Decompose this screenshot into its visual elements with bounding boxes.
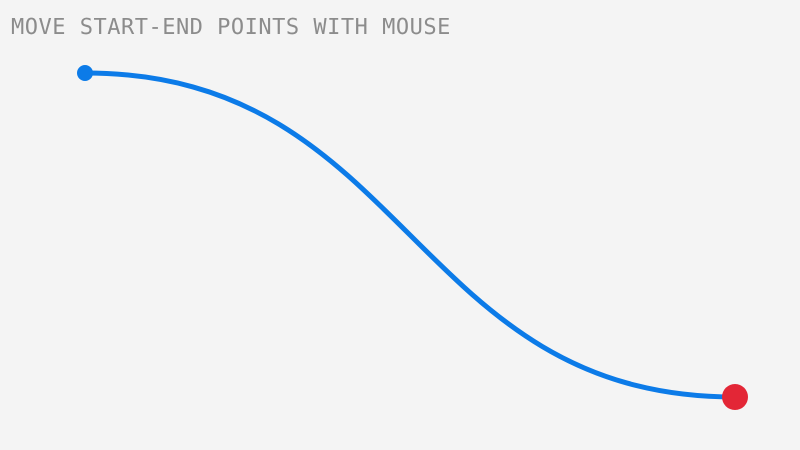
end-point-handle[interactable]	[722, 384, 748, 410]
start-point-handle[interactable]	[77, 65, 93, 81]
curve-canvas[interactable]	[0, 0, 800, 450]
bezier-curve-path	[85, 73, 735, 397]
bezier-canvas-stage[interactable]: MOVE START-END POINTS WITH MOUSE	[0, 0, 800, 450]
